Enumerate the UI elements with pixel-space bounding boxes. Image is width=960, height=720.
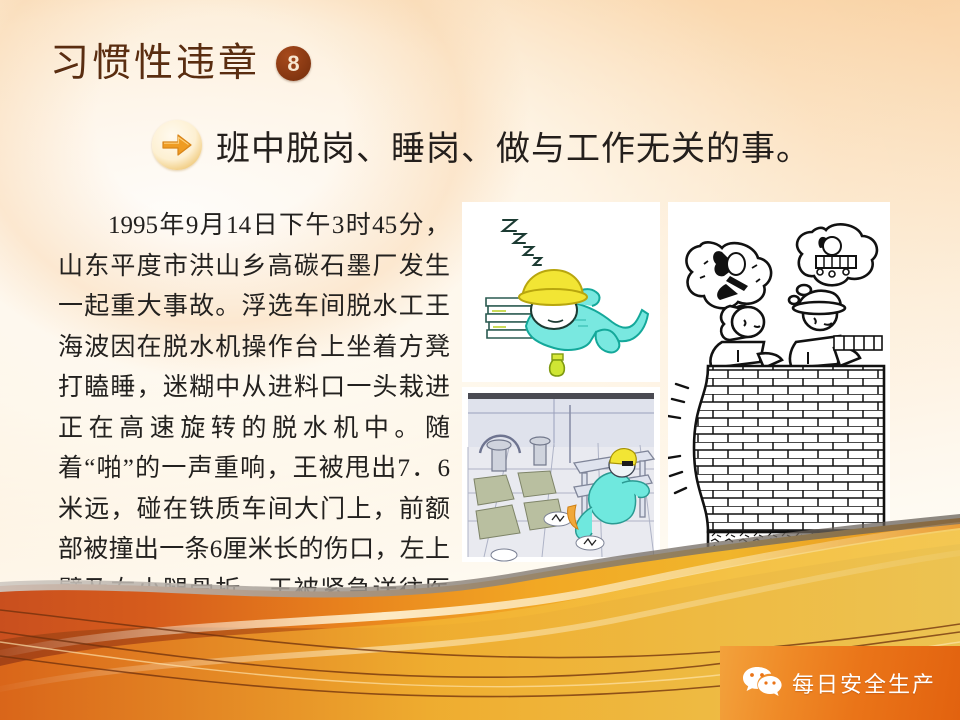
slide-canvas: 习惯性违章 8 班中脱岗、睡岗、做与工作无关的事。 1995年9月14日下午3时… bbox=[0, 0, 960, 720]
subtitle-text: 班中脱岗、睡岗、做与工作无关的事。 bbox=[216, 121, 811, 170]
section-number-badge: 8 bbox=[276, 46, 311, 81]
subtitle-row: 班中脱岗、睡岗、做与工作无关的事。 bbox=[152, 120, 811, 170]
arrow-right-circle-icon bbox=[152, 120, 202, 170]
page-header: 习惯性违章 8 bbox=[50, 44, 311, 83]
watermark-badge: 每日安全生产 bbox=[720, 646, 960, 720]
body-paragraph: 1995年9月14日下午3时45分，山东平度市洪山乡高碳石墨厂发生一起重大事故。… bbox=[58, 206, 450, 652]
watermark-text: 每日安全生产 bbox=[792, 667, 936, 699]
bricklayers-daydreaming-cartoon bbox=[668, 202, 890, 562]
sleeping-worker-cartoon bbox=[462, 202, 660, 382]
wechat-icon bbox=[742, 665, 782, 702]
page-title: 习惯性违章 bbox=[50, 44, 260, 83]
workshop-sitting-worker-drawing bbox=[462, 387, 660, 562]
